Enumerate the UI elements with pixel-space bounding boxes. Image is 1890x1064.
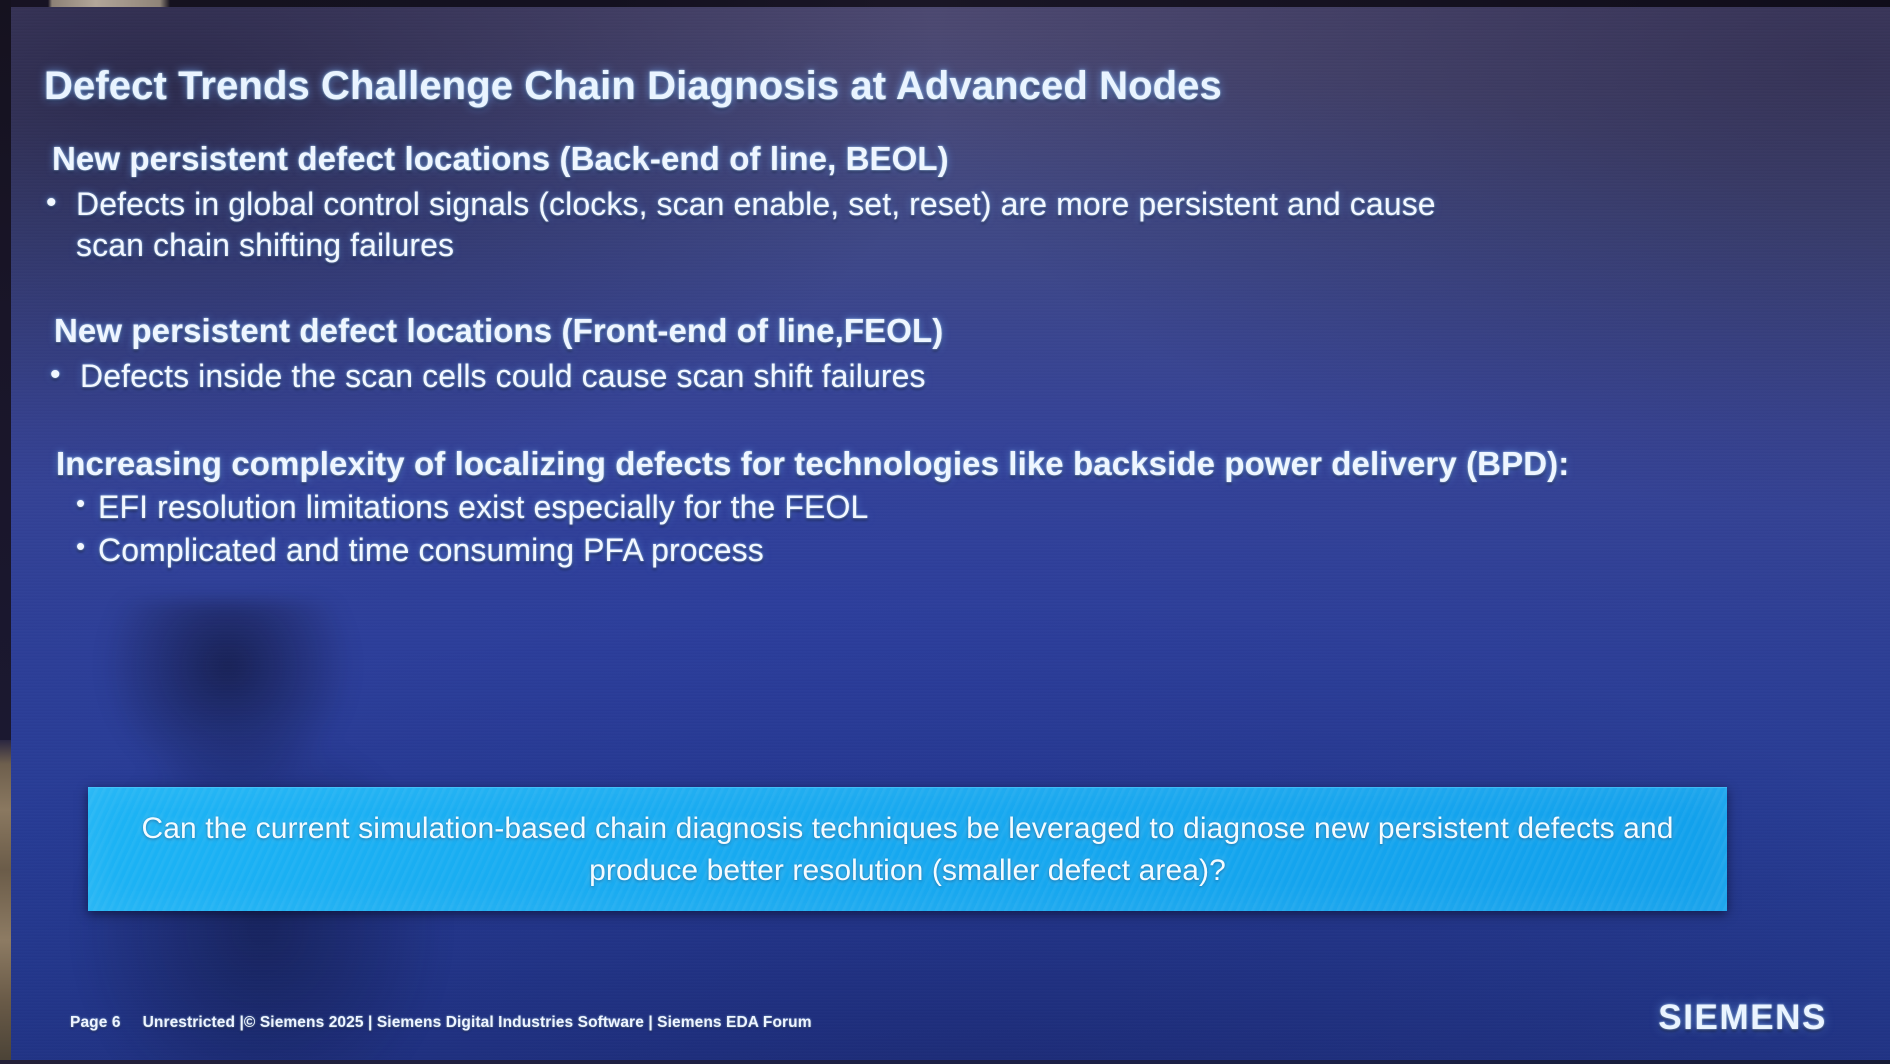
bullet-item: • Defects inside the scan cells could ca… <box>50 356 1890 397</box>
section-heading: Increasing complexity of localizing defe… <box>56 443 1676 485</box>
photo-edge-wall <box>0 740 11 1064</box>
callout-box: Can the current simulation-based chain d… <box>88 787 1727 911</box>
bullet-text: Defects inside the scan cells could caus… <box>80 356 1890 397</box>
page-number: Page 6 <box>70 1014 121 1032</box>
footer-legal: Unrestricted |© Siemens 2025 | Siemens D… <box>143 1014 812 1032</box>
photo-edge-top <box>0 0 1890 7</box>
bullet-dot-icon: • <box>76 530 98 563</box>
bullet-dot-icon: • <box>46 184 76 222</box>
section-feol: New persistent defect locations (Front-e… <box>0 312 1890 397</box>
page-title: Defect Trends Challenge Chain Diagnosis … <box>44 64 1222 109</box>
bullet-dot-icon: • <box>50 356 80 394</box>
photo-edge-left <box>0 0 11 742</box>
bullet-text: Complicated and time consuming PFA proce… <box>98 530 1890 571</box>
section-bpd: Increasing complexity of localizing defe… <box>0 443 1890 571</box>
section-heading: New persistent defect locations (Front-e… <box>54 312 1890 350</box>
photo-edge-bottom <box>0 1060 1890 1064</box>
bullet-item: • Defects in global control signals (clo… <box>46 184 1466 266</box>
bullet-item: • EFI resolution limitations exist espec… <box>76 487 1890 528</box>
section-heading: New persistent defect locations (Back-en… <box>52 140 1890 178</box>
siemens-logo: SIEMENS <box>1658 998 1827 1038</box>
slide-content: Defect Trends Challenge Chain Diagnosis … <box>0 0 1890 1064</box>
bullet-text: EFI resolution limitations exist especia… <box>98 487 1890 528</box>
footer: Page 6 Unrestricted |© Siemens 2025 | Si… <box>70 1014 812 1032</box>
section-beol: New persistent defect locations (Back-en… <box>0 140 1890 266</box>
bullet-text: Defects in global control signals (clock… <box>76 184 1466 266</box>
bullet-dot-icon: • <box>76 487 98 520</box>
bullet-item: • Complicated and time consuming PFA pro… <box>76 530 1890 571</box>
photo-edge-right <box>1877 0 1890 1064</box>
slide-photo: Defect Trends Challenge Chain Diagnosis … <box>0 0 1890 1064</box>
callout-text: Can the current simulation-based chain d… <box>113 808 1703 891</box>
